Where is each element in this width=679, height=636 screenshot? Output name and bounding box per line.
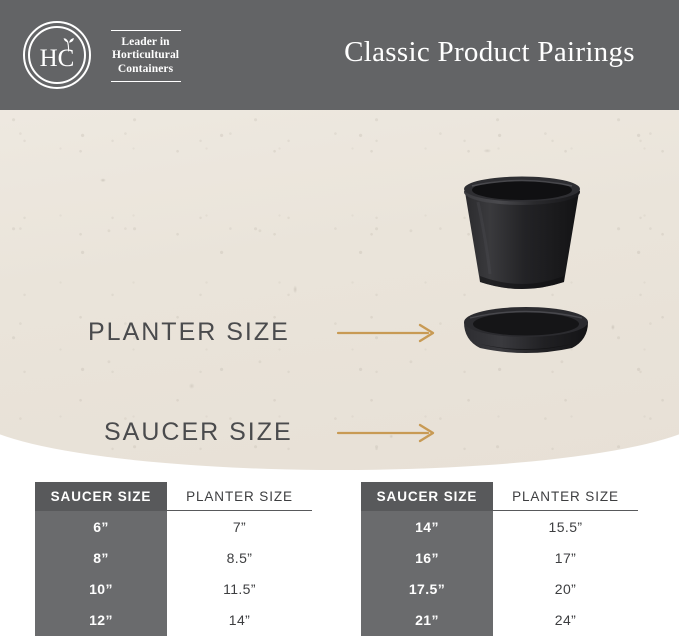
tagline-rule-top: [111, 30, 181, 31]
table-row: 12” 14”: [35, 605, 312, 636]
brand-tagline: Leader in Horticultural Containers: [108, 25, 183, 88]
column-header-planter-size: PLANTER SIZE: [167, 482, 312, 511]
cell-saucer-size: 16”: [361, 550, 493, 566]
table-body: 14” 15.5” 16” 17” 17.5” 20” 21” 24”: [361, 511, 638, 636]
cell-saucer-size: 8”: [35, 550, 167, 566]
cell-saucer-size: 12”: [35, 612, 167, 628]
cell-saucer-size: 10”: [35, 581, 167, 597]
cell-saucer-size: 6”: [35, 519, 167, 535]
planter-arrow-icon: [336, 322, 440, 344]
table-row: 17.5” 20”: [361, 574, 638, 605]
table-header-row: SAUCER SIZE PLANTER SIZE: [35, 482, 312, 511]
table-row: 6” 7”: [35, 511, 312, 542]
table-row: 21” 24”: [361, 605, 638, 636]
column-header-saucer-size: SAUCER SIZE: [35, 482, 167, 511]
tagline-line-2: Horticultural: [112, 49, 179, 63]
page-title: Classic Product Pairings: [300, 0, 679, 110]
cell-planter-size: 17”: [493, 550, 638, 566]
cell-planter-size: 15.5”: [493, 519, 638, 535]
cell-planter-size: 11.5”: [167, 581, 312, 597]
brand-logo: HC Leader in Horticultural Containers: [22, 20, 183, 92]
cell-planter-size: 14”: [167, 612, 312, 628]
table-row: 16” 17”: [361, 542, 638, 573]
size-chart-table-left: SAUCER SIZE PLANTER SIZE 6” 7” 8” 8.5” 1…: [35, 482, 312, 636]
saucer-arrow-icon: [336, 422, 440, 444]
cell-planter-size: 8.5”: [167, 550, 312, 566]
hc-logo-icon: HC: [22, 20, 94, 92]
table-body: 6” 7” 8” 8.5” 10” 11.5” 12” 14”: [35, 511, 312, 636]
saucer-image: [460, 302, 592, 358]
cell-planter-size: 24”: [493, 612, 638, 628]
cell-saucer-size: 17.5”: [361, 581, 493, 597]
tagline-line-1: Leader in: [112, 36, 179, 50]
cell-saucer-size: 21”: [361, 612, 493, 628]
planter-size-label: PLANTER SIZE: [88, 318, 290, 347]
cell-planter-size: 7”: [167, 519, 312, 535]
size-chart-table-right: SAUCER SIZE PLANTER SIZE 14” 15.5” 16” 1…: [361, 482, 638, 636]
leaf-sprout-icon: [60, 36, 78, 52]
header-band: HC Leader in Horticultural Containers Cl…: [0, 0, 679, 110]
tagline-line-3: Containers: [112, 63, 179, 77]
cell-saucer-size: 14”: [361, 519, 493, 535]
table-row: 10” 11.5”: [35, 574, 312, 605]
planter-pot-image: [452, 170, 592, 300]
hero-panel: PLANTER SIZE SAUCER SIZE: [0, 110, 679, 470]
cell-planter-size: 20”: [493, 581, 638, 597]
product-pairings-infographic: HC Leader in Horticultural Containers Cl…: [0, 0, 679, 636]
column-header-planter-size: PLANTER SIZE: [493, 482, 638, 511]
saucer-size-label: SAUCER SIZE: [104, 418, 293, 447]
tagline-rule-bottom: [111, 81, 181, 82]
table-header-row: SAUCER SIZE PLANTER SIZE: [361, 482, 638, 511]
table-row: 14” 15.5”: [361, 511, 638, 542]
column-header-saucer-size: SAUCER SIZE: [361, 482, 493, 511]
table-row: 8” 8.5”: [35, 542, 312, 573]
logo-monogram: HC: [22, 20, 92, 92]
